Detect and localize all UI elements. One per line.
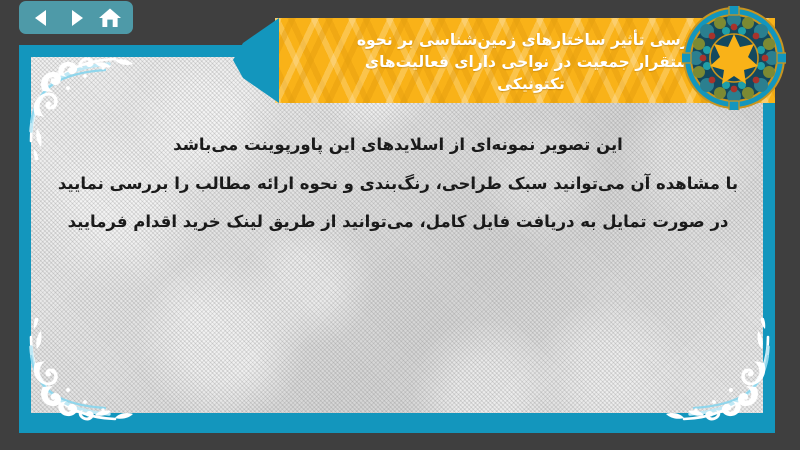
body-line-3: در صورت تمایل به دریافت فایل کامل، می‌تو… xyxy=(40,209,756,235)
title-line-2: استقرار جمعیت در نواحی دارای فعالیت‌های xyxy=(365,51,697,73)
slide-frame xyxy=(19,45,775,433)
back-button[interactable] xyxy=(29,5,55,31)
forward-button[interactable] xyxy=(63,5,89,31)
home-icon xyxy=(98,6,122,30)
slide-content-area xyxy=(31,57,763,413)
slide-body-text: این تصویر نمونه‌ای از اسلایدهای این پاور… xyxy=(40,132,756,235)
triangle-right-icon xyxy=(65,7,87,29)
body-line-1: این تصویر نمونه‌ای از اسلایدهای این پاور… xyxy=(40,132,756,158)
triangle-left-icon xyxy=(31,7,53,29)
home-button[interactable] xyxy=(97,5,123,31)
slide-canvas: بررسی تأثیر ساختارهای زمین‌شناسی بر نحوه… xyxy=(0,0,800,450)
persian-medallion-ornament xyxy=(682,6,786,110)
banner-chevron-tail xyxy=(233,18,279,103)
body-line-2: با مشاهده آن می‌توانید سبک طراحی، رنگ‌بن… xyxy=(40,171,756,197)
halftone-texture xyxy=(31,57,763,413)
title-line-3: تکتونیکی xyxy=(497,73,565,95)
title-line-1: بررسی تأثیر ساختارهای زمین‌شناسی بر نحوه xyxy=(357,29,705,51)
navigation-toolbar xyxy=(19,1,133,34)
